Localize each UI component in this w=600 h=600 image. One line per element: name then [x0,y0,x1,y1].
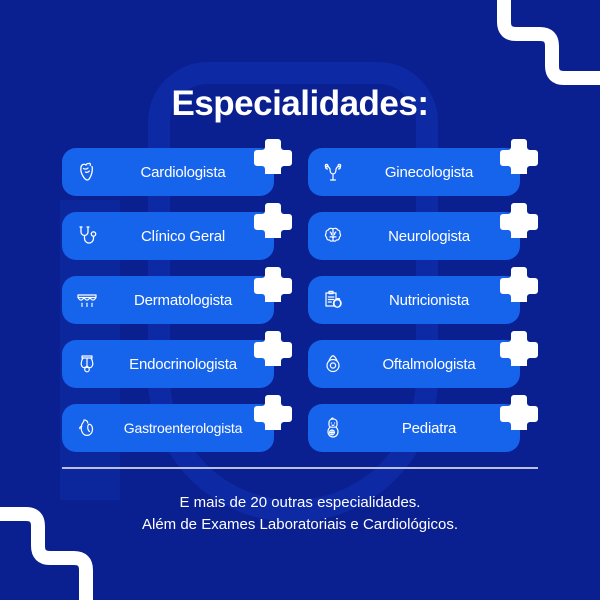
brain-icon [320,223,346,249]
baby-icon [320,415,346,441]
plus-icon [500,264,538,302]
footer-text: E mais de 20 outras especialidades. Além… [0,492,600,536]
clipboard-apple-icon [320,287,346,313]
specialties-grid: Cardiologista [62,148,538,452]
poster-canvas: Especialidades: Cardiologista [0,0,600,600]
specialty-pill-nutricionista[interactable]: Nutricionista [308,276,520,324]
specialty-pill-endocrinologista[interactable]: Endocrinologista [62,340,274,388]
skin-layers-icon [74,287,100,313]
specialty-item[interactable]: Endocrinologista [62,340,292,388]
plus-icon [500,136,538,174]
specialty-pill-cardiologista[interactable]: Cardiologista [62,148,274,196]
specialty-label: Nutricionista [346,292,512,309]
footer-line-2: Além de Exames Laboratoriais e Cardiológ… [0,514,600,536]
page-title: Especialidades: [0,84,600,124]
uterus-icon [320,159,346,185]
specialty-label: Gastroenterologista [100,420,266,436]
plus-icon [254,392,292,430]
specialty-label: Neurologista [346,228,512,245]
specialty-label: Cardiologista [100,164,266,181]
specialty-label: Oftalmologista [346,356,512,373]
plus-icon [500,200,538,238]
stethoscope-icon [74,223,100,249]
plus-icon [254,328,292,366]
plus-icon [254,264,292,302]
specialty-label: Pediatra [346,420,512,437]
plus-icon [254,200,292,238]
plus-icon [500,328,538,366]
specialty-item[interactable]: Ginecologista [308,148,538,196]
specialty-item[interactable]: Dermatologista [62,276,292,324]
specialty-pill-pediatra[interactable]: Pediatra [308,404,520,452]
specialty-pill-oftalmologista[interactable]: Oftalmologista [308,340,520,388]
specialty-item[interactable]: Nutricionista [308,276,538,324]
specialties-column-left: Cardiologista [62,148,292,452]
specialty-item[interactable]: Clínico Geral [62,212,292,260]
plus-icon [500,392,538,430]
heart-icon [74,159,100,185]
specialty-pill-neurologista[interactable]: Neurologista [308,212,520,260]
specialty-item[interactable]: Cardiologista [62,148,292,196]
specialty-label: Endocrinologista [100,356,266,373]
specialty-item[interactable]: Oftalmologista [308,340,538,388]
specialty-item[interactable]: Gastroenterologista [62,404,292,452]
specialty-label: Dermatologista [100,292,266,309]
specialty-pill-gastroenterologista[interactable]: Gastroenterologista [62,404,274,452]
footer-line-1: E mais de 20 outras especialidades. [0,492,600,514]
footer-divider [62,467,538,469]
specialty-label: Clínico Geral [100,228,266,245]
specialty-pill-dermatologista[interactable]: Dermatologista [62,276,274,324]
specialty-pill-clinico-geral[interactable]: Clínico Geral [62,212,274,260]
stomach-icon [74,415,100,441]
eye-icon [320,351,346,377]
specialty-pill-ginecologista[interactable]: Ginecologista [308,148,520,196]
thyroid-gland-icon [74,351,100,377]
plus-icon [254,136,292,174]
specialties-column-right: Ginecologista [308,148,538,452]
specialty-item[interactable]: Neurologista [308,212,538,260]
specialty-item[interactable]: Pediatra [308,404,538,452]
specialty-label: Ginecologista [346,164,512,181]
